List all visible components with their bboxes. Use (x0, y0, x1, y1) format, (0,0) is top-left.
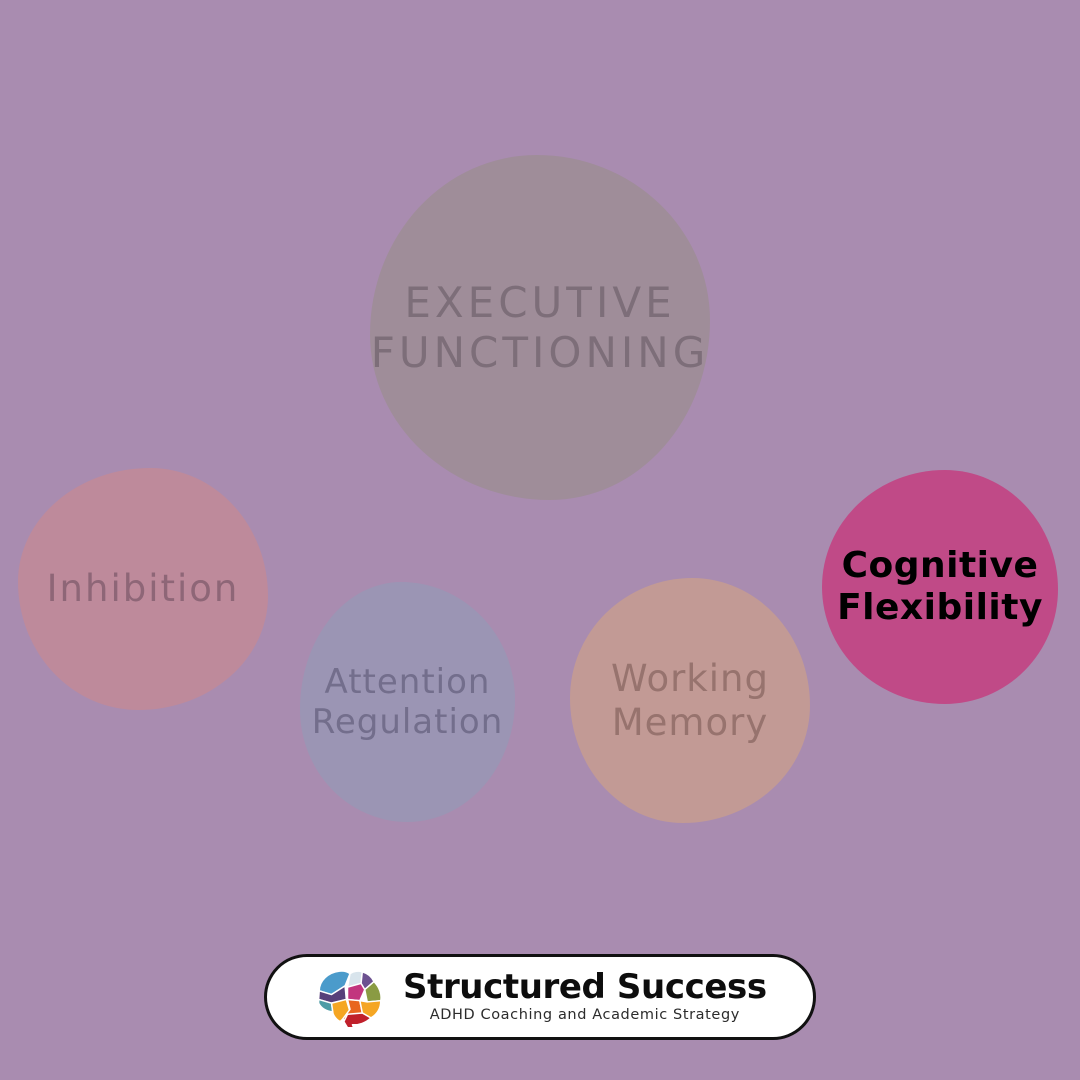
bubble-executive-functioning[interactable]: EXECUTIVE FUNCTIONING (370, 155, 710, 500)
bubble-label-inhibition: Inhibition (47, 567, 240, 611)
brain-icon (313, 965, 387, 1029)
bubble-label-attention-regulation: Attention Regulation (312, 662, 504, 742)
infographic-canvas: EXECUTIVE FUNCTIONING Inhibition Attenti… (0, 0, 1080, 1080)
logo-tagline: ADHD Coaching and Academic Strategy (430, 1008, 740, 1024)
bubble-working-memory[interactable]: Working Memory (570, 578, 810, 823)
logo-title: Structured Success (403, 970, 767, 1006)
bubble-label-executive-functioning: EXECUTIVE FUNCTIONING (371, 278, 710, 377)
bubble-label-working-memory: Working Memory (611, 657, 769, 744)
bubble-cognitive-flexibility[interactable]: Cognitive Flexibility (822, 470, 1058, 704)
bubble-inhibition[interactable]: Inhibition (18, 468, 268, 710)
brand-logo-pill[interactable]: Structured Success ADHD Coaching and Aca… (264, 954, 816, 1040)
bubble-label-cognitive-flexibility: Cognitive Flexibility (837, 545, 1043, 630)
bubble-attention-regulation[interactable]: Attention Regulation (300, 582, 515, 822)
logo-text-block: Structured Success ADHD Coaching and Aca… (403, 970, 767, 1025)
